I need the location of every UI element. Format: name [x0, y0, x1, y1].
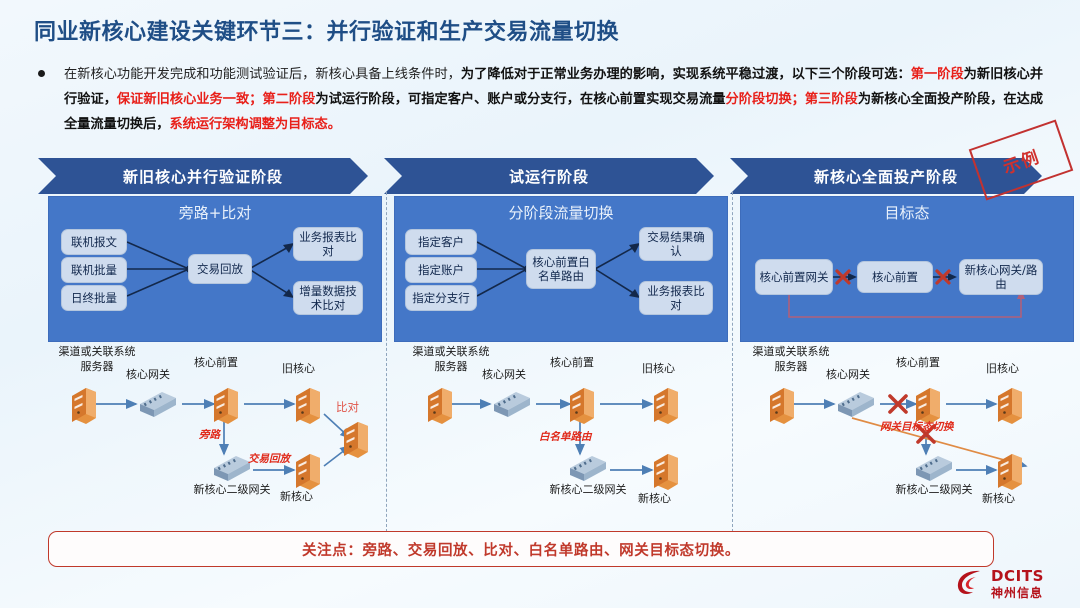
- input-node-1-1[interactable]: 联机报文: [61, 229, 127, 255]
- dcits-mark-icon: [955, 567, 985, 597]
- scene-1-gateway-label: 核心网关: [126, 368, 170, 382]
- key-points-banner: 关注点：旁路、交易回放、比对、白名单路由、网关目标态切换。: [48, 531, 994, 567]
- slide-root: 同业新核心建设关键环节三：并行验证和生产交易流量切换 在新核心功能开发完成和功能…: [0, 0, 1080, 608]
- column-divider-1: [386, 192, 387, 532]
- phase-chevron-bar: 新旧核心并行验证阶段 试运行阶段 新核心全面投产阶段: [38, 158, 1042, 194]
- target-node-3-3[interactable]: 新核心网关/路由: [959, 259, 1043, 295]
- scene-2-newgateway-label: 新核心二级网关: [546, 482, 630, 497]
- scene-1-compare-label: 比对: [336, 400, 359, 414]
- bullet-paragraph: 在新核心功能开发完成和功能测试验证后，新核心具备上线条件时，为了降低对于正常业务…: [64, 62, 1043, 137]
- input-node-1-3[interactable]: 日终批量: [61, 285, 127, 311]
- scene-2-front-label: 核心前置: [550, 356, 594, 370]
- phase-chevron-2[interactable]: 试运行阶段: [384, 158, 714, 194]
- flow-panel-2: 分阶段流量切换 指定客户 指定账户 指定分支行 核心前置白名单路由 交易结果确认…: [394, 196, 728, 342]
- hub-node-1[interactable]: 交易回放: [188, 254, 252, 284]
- column-divider-2: [732, 192, 733, 532]
- scene-1-newgateway-label: 新核心二级网关: [190, 482, 274, 497]
- input-node-1-2[interactable]: 联机批量: [61, 257, 127, 283]
- scene-2-whitelist-edge-label: 白名单路由: [539, 430, 592, 444]
- para-seg-5: 保证新旧核心业务一致；: [117, 92, 263, 107]
- dcits-logo: DCITS 神州信息: [955, 565, 1067, 603]
- input-node-2-3[interactable]: 指定分支行: [405, 285, 477, 311]
- column-1: 旁路+比对 联机报文 联机批量 日终批量 交易回放 业务报表比对 增量数据技术比…: [48, 196, 380, 526]
- server-scene-3: 渠道或关联系统服务器 核心网关 核心前置 旧核心 网关目标态切换 新核心二级网关…: [740, 342, 1072, 526]
- scene-1-bypass-edge-label: 旁路: [199, 428, 220, 442]
- scene-2-oldcore-label: 旧核心: [642, 362, 675, 376]
- flow-panel-1: 旁路+比对 联机报文 联机批量 日终批量 交易回放 业务报表比对 增量数据技术比…: [48, 196, 382, 342]
- server-scene-2: 渠道或关联系统服务器 核心网关 核心前置 旧核心 白名单路由 新核心二级网关 新…: [394, 342, 726, 526]
- output-node-1-1[interactable]: 业务报表比对: [293, 227, 363, 261]
- scene-3-newcore-label: 新核心: [982, 492, 1015, 506]
- input-node-2-2[interactable]: 指定账户: [405, 257, 477, 283]
- output-node-2-1[interactable]: 交易结果确认: [639, 227, 713, 261]
- scene-3-switch-edge-label: 网关目标态切换: [880, 420, 954, 434]
- scene-3-newgateway-label: 新核心二级网关: [892, 482, 976, 497]
- para-seg-8: 分阶段切换；: [726, 92, 805, 107]
- para-seg-6: 第二阶段: [262, 92, 315, 107]
- scene-1-oldcore-label: 旧核心: [282, 362, 315, 376]
- phase-chevron-1[interactable]: 新旧核心并行验证阶段: [38, 158, 368, 194]
- target-node-3-2[interactable]: 核心前置: [857, 261, 933, 293]
- output-node-1-2[interactable]: 增量数据技术比对: [293, 281, 363, 315]
- scene-1-newcore-label: 新核心: [280, 490, 313, 504]
- para-seg-1: 在新核心功能开发完成和功能测试验证后，新核心具备上线条件时，: [64, 67, 461, 82]
- scene-3-front-label: 核心前置: [896, 356, 940, 370]
- para-seg-3: 第一阶段: [911, 67, 964, 82]
- scene-2-gateway-label: 核心网关: [482, 368, 526, 382]
- para-seg-11: 系统运行架构调整为目标态。: [170, 117, 341, 132]
- server-scene-1: 渠道或关联系统服务器 核心网关 核心前置 旧核心 比对 旁路 交易回放 新核心二…: [48, 342, 380, 526]
- para-seg-9: 第三阶段: [805, 92, 858, 107]
- scene-1-replay-edge-label: 交易回放: [248, 452, 290, 466]
- para-seg-2: 为了降低对于正常业务办理的影响，实现系统平稳过渡，以下三个阶段可选：: [461, 67, 911, 82]
- output-node-2-2[interactable]: 业务报表比对: [639, 281, 713, 315]
- page-title: 同业新核心建设关键环节三：并行验证和生产交易流量切换: [34, 14, 619, 46]
- scene-3-source-label: 渠道或关联系统服务器: [748, 344, 834, 374]
- bullet-block: 在新核心功能开发完成和功能测试验证后，新核心具备上线条件时，为了降低对于正常业务…: [38, 62, 1043, 137]
- input-node-2-1[interactable]: 指定客户: [405, 229, 477, 255]
- scene-3-gateway-label: 核心网关: [826, 368, 870, 382]
- columns-area: 旁路+比对 联机报文 联机批量 日终批量 交易回放 业务报表比对 增量数据技术比…: [24, 196, 1058, 526]
- hub-node-2[interactable]: 核心前置白名单路由: [526, 249, 596, 289]
- target-node-3-1[interactable]: 核心前置网关: [755, 259, 833, 295]
- para-seg-7: 为试运行阶段，可指定客户、账户或分支行，在核心前置实现交易流量: [315, 92, 725, 107]
- bullet-dot-icon: [38, 70, 45, 77]
- scene-2-newcore-label: 新核心: [638, 492, 671, 506]
- column-3: 目标态 核心前置网关 核心前置 新核心网关/路由: [740, 196, 1072, 526]
- scene-3-oldcore-label: 旧核心: [986, 362, 1019, 376]
- dcits-logo-cn: 神州信息: [991, 584, 1043, 601]
- column-2: 分阶段流量切换 指定客户 指定账户 指定分支行 核心前置白名单路由 交易结果确认…: [394, 196, 726, 526]
- scene-1-front-label: 核心前置: [194, 356, 238, 370]
- dcits-logo-en: DCITS: [991, 567, 1044, 585]
- flow-panel-3: 目标态 核心前置网关 核心前置 新核心网关/路由: [740, 196, 1074, 342]
